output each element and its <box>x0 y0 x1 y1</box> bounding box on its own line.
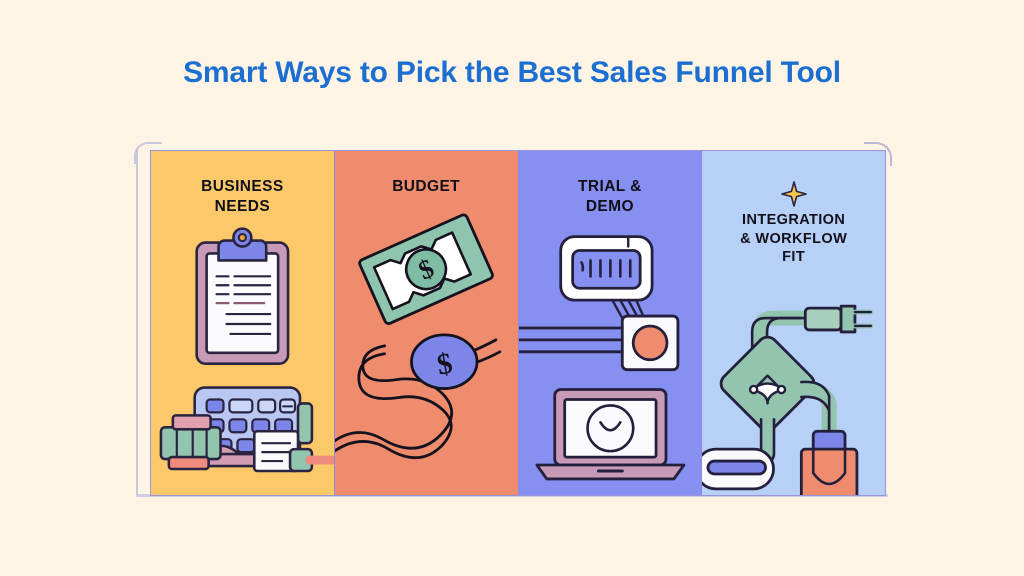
infographic-canvas: Smart Ways to Pick the Best Sales Funnel… <box>0 0 1024 576</box>
panel-title-line-1: BUDGET <box>335 177 518 197</box>
panel-integration-workflow-fit[interactable]: INTEGRATION & WORKFLOW FIT <box>702 151 885 495</box>
panel-title-integration-workflow-fit: INTEGRATION & WORKFLOW FIT <box>702 211 885 267</box>
panel-trial-demo[interactable]: TRIAL & DEMO <box>519 151 703 495</box>
panel-business-needs[interactable]: BUSINESS NEEDS <box>151 151 335 495</box>
panel-title-budget: BUDGET <box>335 177 518 197</box>
page-title: Smart Ways to Pick the Best Sales Funnel… <box>0 56 1024 90</box>
panel-title-line-1: INTEGRATION <box>702 211 885 230</box>
panel-title-line-1: BUSINESS <box>151 177 334 197</box>
sparkle-icon <box>702 181 885 211</box>
panel-title-line-3: FIT <box>702 248 885 267</box>
panel-title-trial-demo: TRIAL & DEMO <box>519 177 702 217</box>
illustration-budget: $ $ <box>335 151 518 495</box>
panel-title-line-2: DEMO <box>519 197 702 217</box>
panel-title-line-2: & WORKFLOW <box>702 230 885 249</box>
panel-title-line-1: TRIAL & <box>519 177 702 197</box>
frame-left-edge <box>136 148 138 496</box>
panel-budget[interactable]: BUDGET $ <box>335 151 519 495</box>
panel-title-line-2: NEEDS <box>151 197 334 217</box>
panels-board: BUSINESS NEEDS <box>136 142 888 502</box>
panel-title-business-needs: BUSINESS NEEDS <box>151 177 334 217</box>
panel-row: BUSINESS NEEDS <box>150 150 886 496</box>
